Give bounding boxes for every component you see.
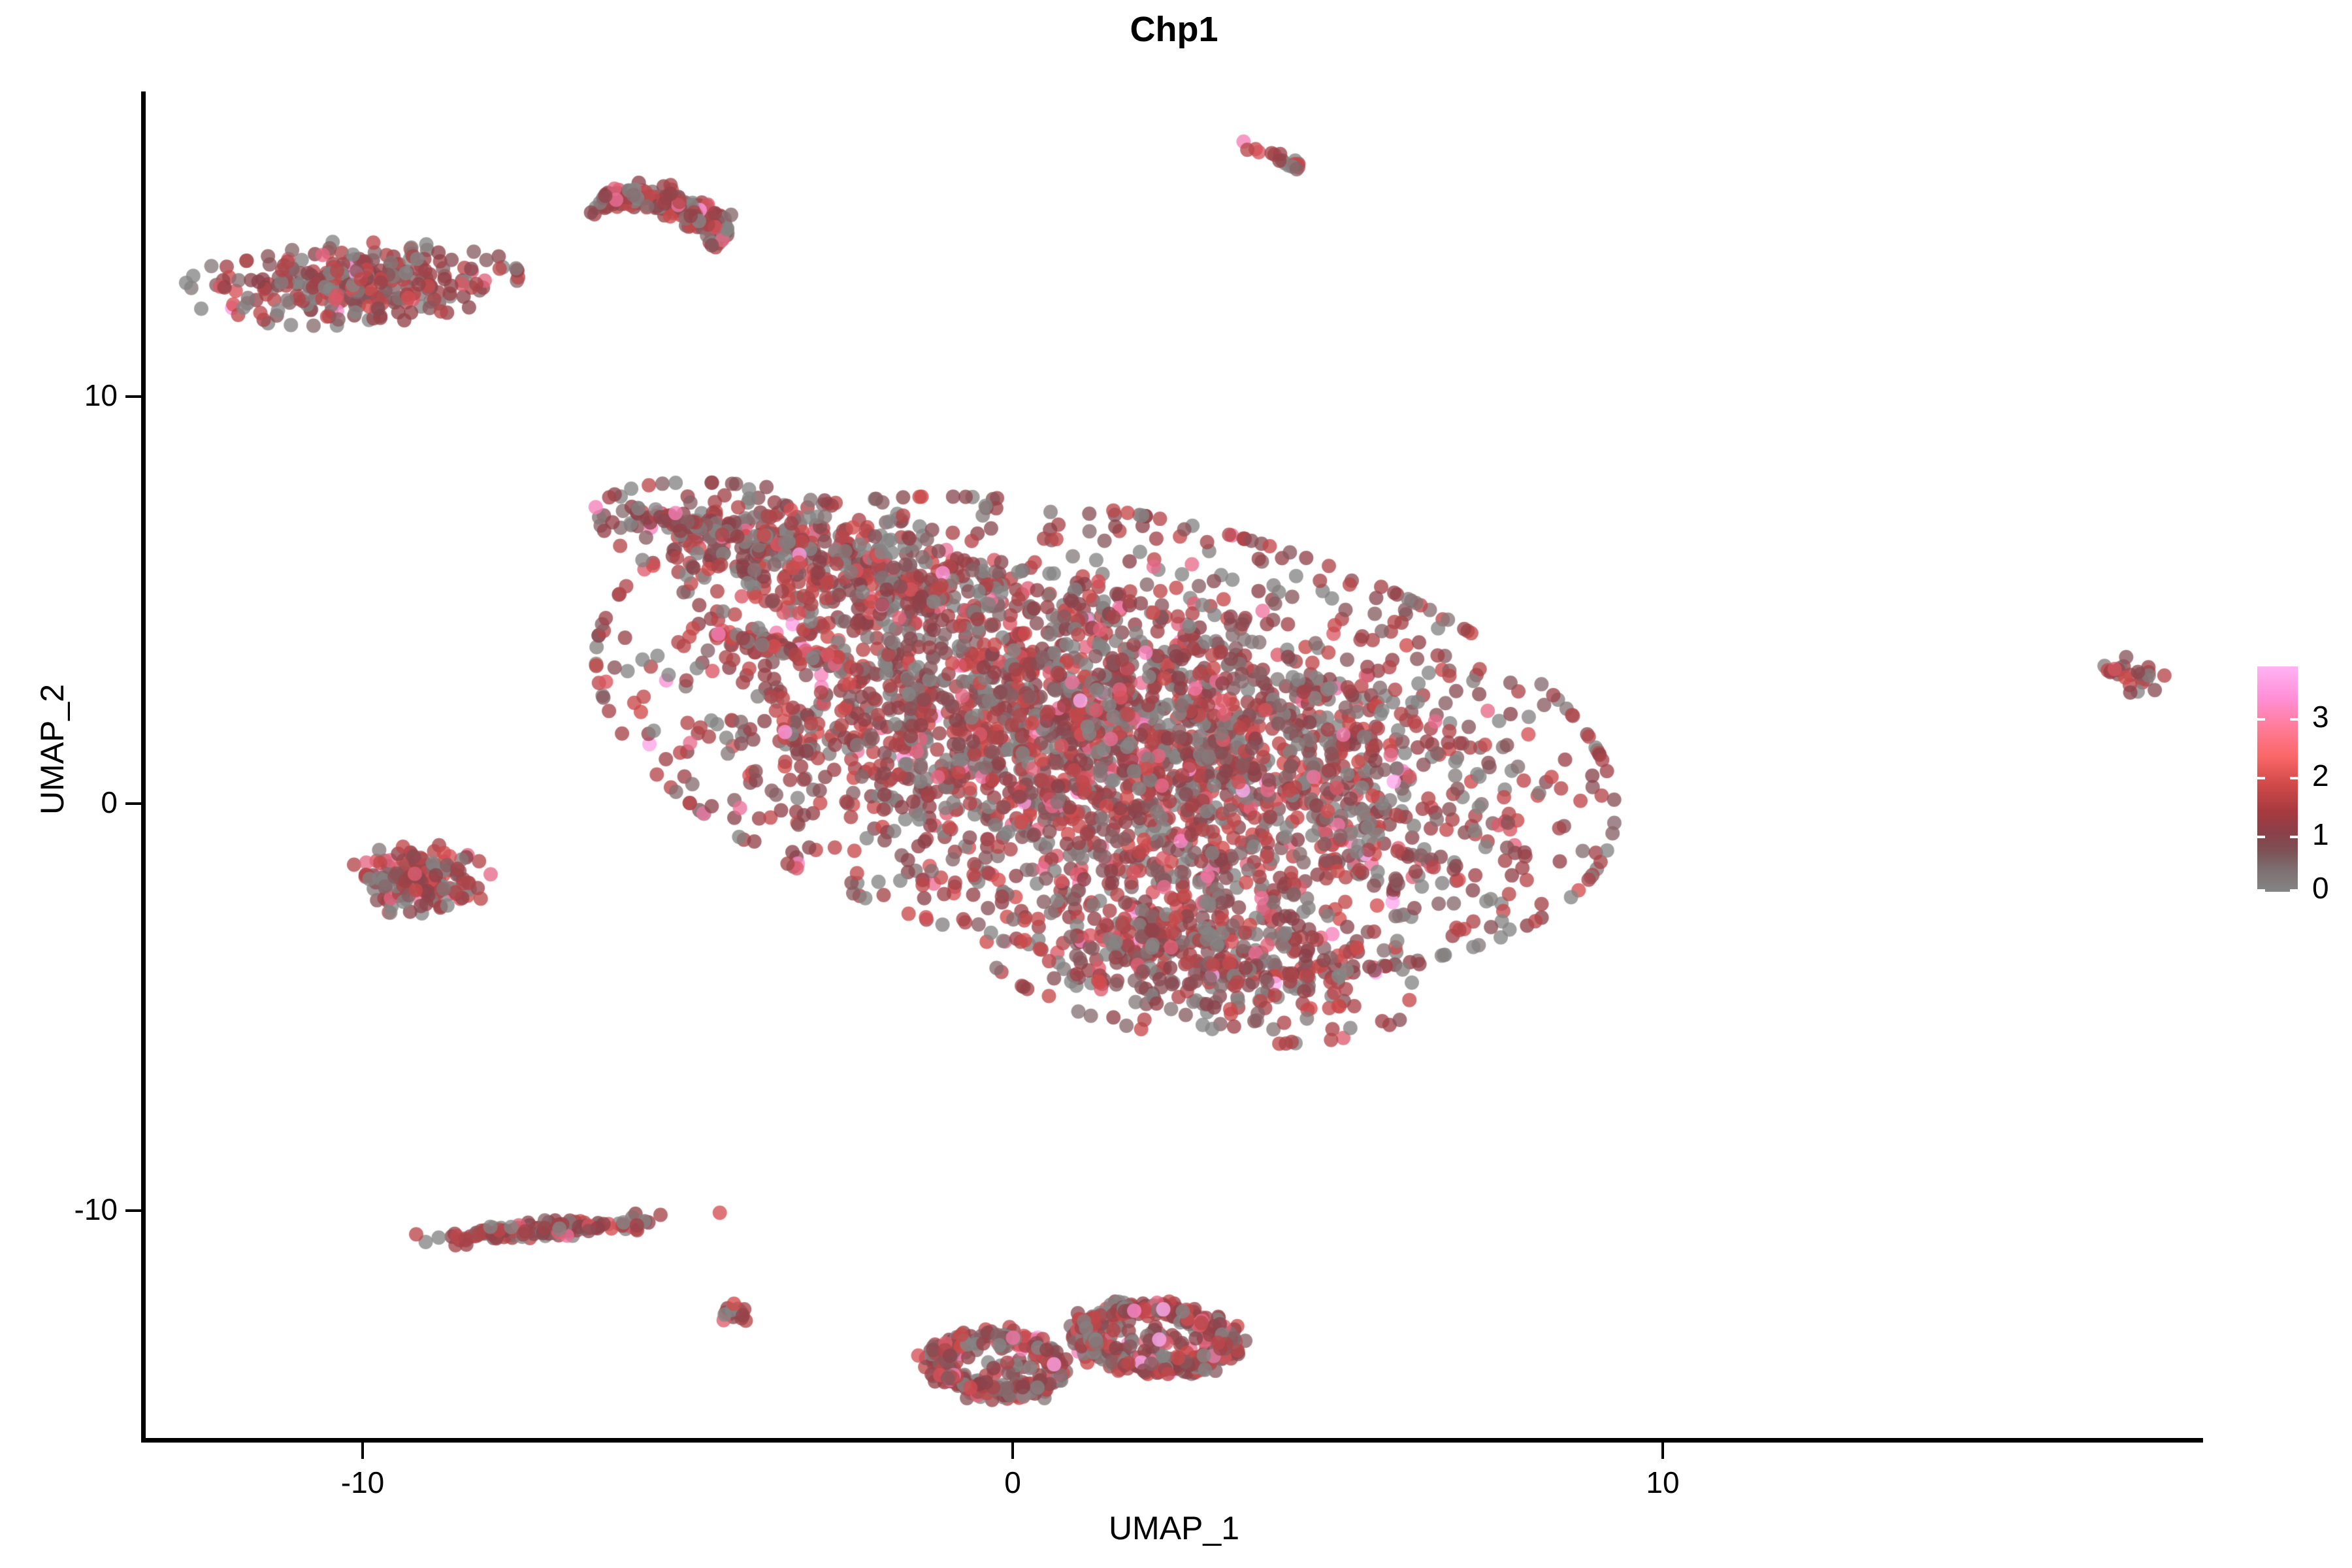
- colorbar-tick-0-right: [2290, 889, 2298, 892]
- colorbar-label-1: 1: [2312, 819, 2329, 849]
- y-tick-label-m10: -10: [0, 1192, 118, 1227]
- colorbar-tick-1-right: [2290, 836, 2298, 838]
- colorbar-tick-0-left: [2257, 889, 2265, 892]
- x-tick-mark-0: [1011, 1443, 1014, 1459]
- x-tick-mark-10: [1661, 1443, 1664, 1459]
- colorbar-tick-2-right: [2290, 777, 2298, 779]
- page-title: Chp1: [1130, 10, 1218, 49]
- colorbar-tick-3-right: [2290, 718, 2298, 721]
- plot-panel: [145, 91, 2203, 1440]
- x-tick-label-0: 0: [947, 1465, 1078, 1500]
- colorbar-legend: 3 2 1 0: [2257, 666, 2352, 908]
- umap-figure: Chp1 10 0 -10 -10 0 10 UMAP_1 UMAP_2 3 2…: [0, 0, 2352, 1568]
- colorbar-label-3: 3: [2312, 702, 2329, 732]
- colorbar-label-0: 0: [2312, 873, 2329, 903]
- x-axis-line: [141, 1438, 2203, 1443]
- y-axis-line: [141, 91, 146, 1443]
- y-tick-mark-10: [125, 395, 142, 398]
- x-axis-title: UMAP_1: [145, 1509, 2203, 1547]
- colorbar-label-2: 2: [2312, 760, 2329, 791]
- y-tick-mark-0: [125, 802, 142, 805]
- y-tick-mark-m10: [125, 1209, 142, 1212]
- y-axis-title: UMAP_2: [33, 357, 71, 1141]
- x-tick-mark-m10: [361, 1443, 364, 1459]
- colorbar-tick-3-left: [2257, 718, 2265, 721]
- plot-title-wrap: Chp1: [145, 9, 2203, 50]
- scatter-plot-canvas: [145, 91, 2203, 1440]
- colorbar-tick-2-left: [2257, 777, 2265, 779]
- x-tick-label-10: 10: [1597, 1465, 1728, 1500]
- x-tick-label-m10: -10: [297, 1465, 428, 1500]
- colorbar-tick-1-left: [2257, 836, 2265, 838]
